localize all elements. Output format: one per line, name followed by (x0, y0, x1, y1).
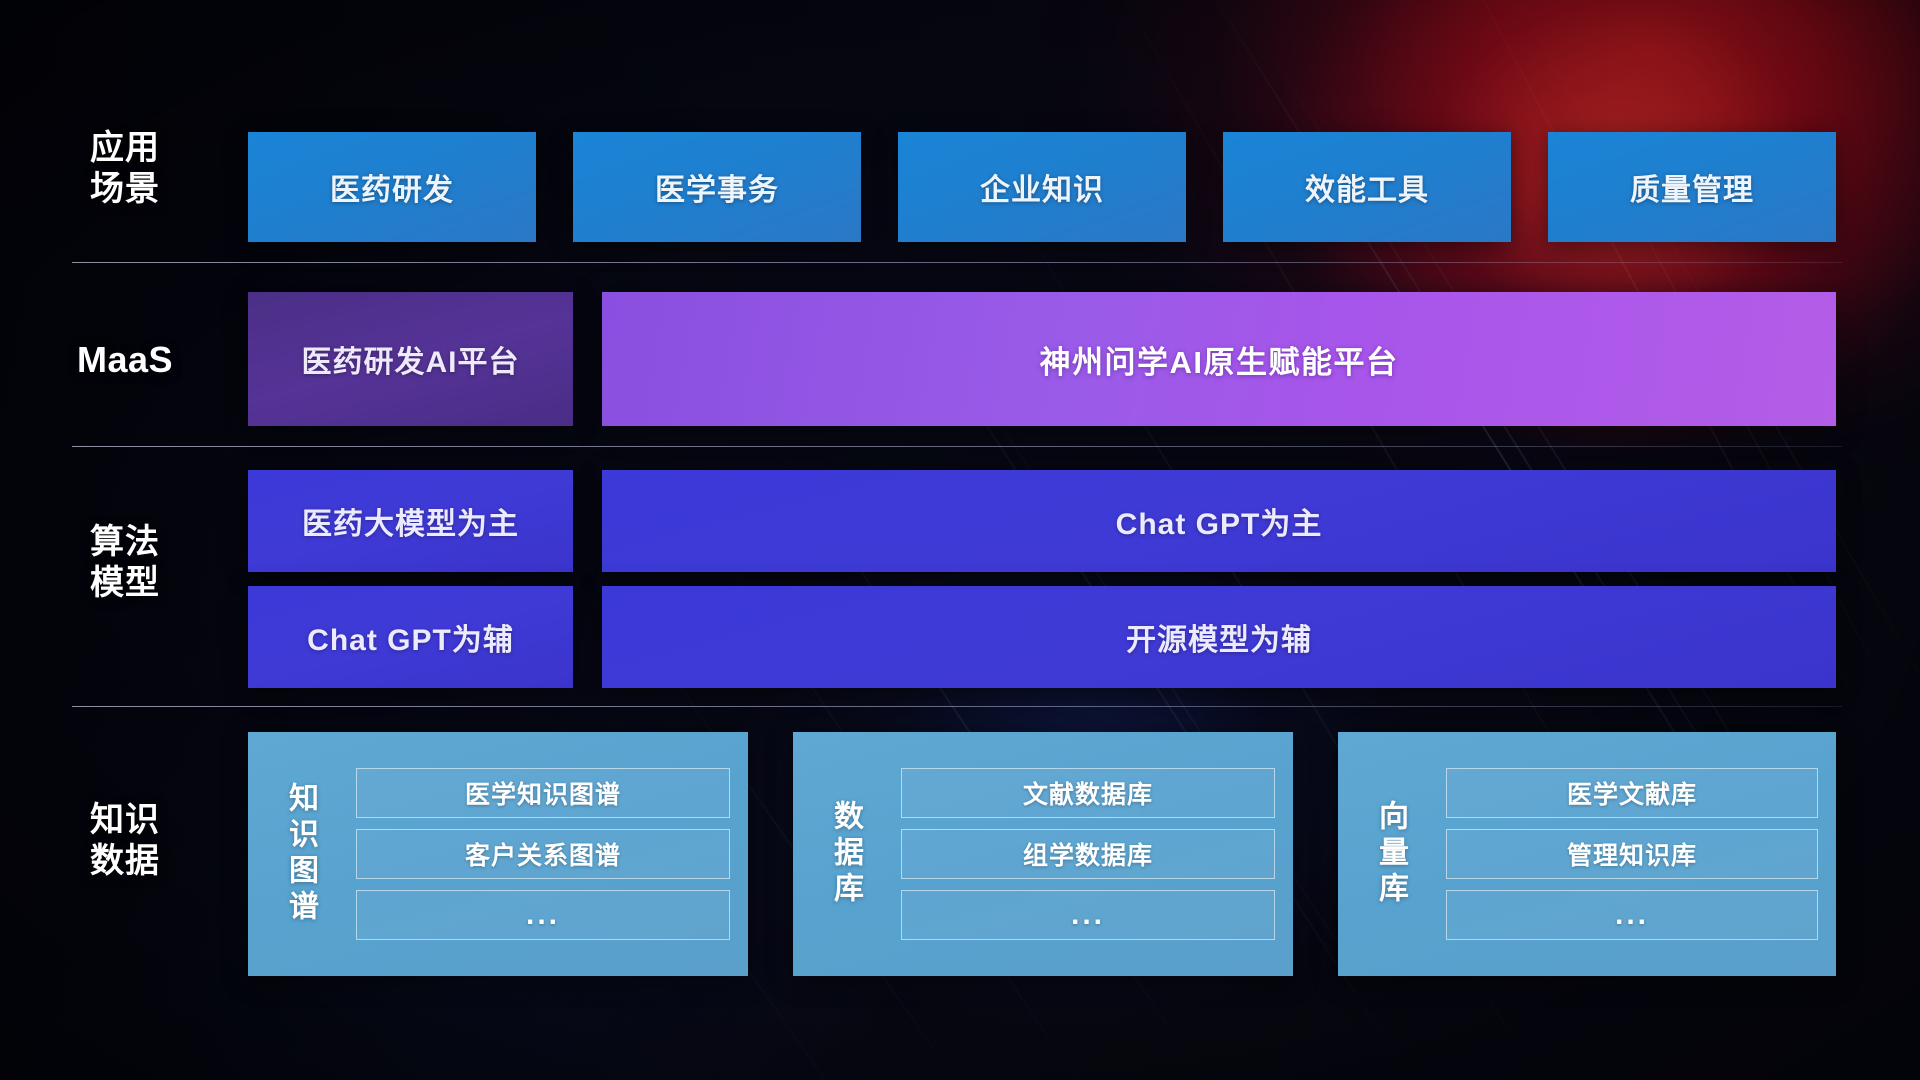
app-scenario-box-2[interactable]: 医学事务 (573, 132, 861, 242)
app-scenario-box-5[interactable]: 质量管理 (1548, 132, 1836, 242)
algorithm-box-opensource-secondary[interactable]: 开源模型为辅 (602, 586, 1836, 688)
divider-after-application-scenarios (72, 262, 1842, 263)
knowledge-item-kg-3[interactable]: ... (356, 890, 730, 940)
app-scenario-label-5: 质量管理 (1630, 165, 1754, 209)
knowledge-item-kg-1[interactable]: 医学知识图谱 (356, 768, 730, 818)
algorithm-label-chatgpt-primary: Chat GPT为主 (1116, 499, 1323, 543)
app-scenario-label-2: 医学事务 (655, 165, 779, 209)
algorithm-box-chatgpt-primary[interactable]: Chat GPT为主 (602, 470, 1836, 572)
app-scenario-box-1[interactable]: 医药研发 (248, 132, 536, 242)
knowledge-panel-vertical-label-vector-store: 向量库 (1338, 732, 1442, 976)
knowledge-panel-vector-store[interactable]: 向量库 医学文献库 管理知识库 ... (1338, 732, 1836, 976)
knowledge-panel-items-database: 文献数据库 组学数据库 ... (897, 732, 1293, 976)
algorithm-label-pharma-primary: 医药大模型为主 (302, 499, 519, 543)
knowledge-item-db-3[interactable]: ... (901, 890, 1275, 940)
app-scenario-box-3[interactable]: 企业知识 (898, 132, 1186, 242)
knowledge-item-vs-1[interactable]: 医学文献库 (1446, 768, 1818, 818)
layer-label-application-scenarios: 应用 场景 (50, 128, 200, 211)
knowledge-panel-vertical-label-database: 数据库 (793, 732, 897, 976)
knowledge-item-vs-2[interactable]: 管理知识库 (1446, 829, 1818, 879)
algorithm-box-chatgpt-secondary[interactable]: Chat GPT为辅 (248, 586, 573, 688)
knowledge-item-db-1[interactable]: 文献数据库 (901, 768, 1275, 818)
app-scenario-label-4: 效能工具 (1305, 165, 1429, 209)
app-scenario-label-1: 医药研发 (330, 165, 454, 209)
knowledge-panel-items-knowledge-graph: 医学知识图谱 客户关系图谱 ... (352, 732, 748, 976)
maas-platform-label-shenzhou: 神州问学AI原生赋能平台 (1040, 337, 1399, 382)
maas-platform-box-shenzhou[interactable]: 神州问学AI原生赋能平台 (602, 292, 1836, 426)
knowledge-item-kg-2[interactable]: 客户关系图谱 (356, 829, 730, 879)
knowledge-panel-knowledge-graph[interactable]: 知识图谱 医学知识图谱 客户关系图谱 ... (248, 732, 748, 976)
algorithm-label-opensource-secondary: 开源模型为辅 (1126, 615, 1312, 659)
app-scenario-label-3: 企业知识 (980, 165, 1104, 209)
knowledge-panel-items-vector-store: 医学文献库 管理知识库 ... (1442, 732, 1836, 976)
layer-label-algorithm-models: 算法 模型 (50, 522, 200, 605)
knowledge-item-vs-3[interactable]: ... (1446, 890, 1818, 940)
algorithm-label-chatgpt-secondary: Chat GPT为辅 (307, 615, 514, 659)
divider-after-maas (72, 446, 1842, 447)
divider-after-algorithm-models (72, 706, 1842, 707)
algorithm-box-pharma-primary[interactable]: 医药大模型为主 (248, 470, 573, 572)
maas-platform-box-pharma[interactable]: 医药研发AI平台 (248, 292, 573, 426)
layer-label-maas: MaaS (50, 338, 200, 382)
knowledge-item-db-2[interactable]: 组学数据库 (901, 829, 1275, 879)
app-scenario-box-4[interactable]: 效能工具 (1223, 132, 1511, 242)
knowledge-panel-database[interactable]: 数据库 文献数据库 组学数据库 ... (793, 732, 1293, 976)
maas-platform-label-pharma: 医药研发AI平台 (302, 337, 520, 381)
architecture-diagram: 应用 场景 医药研发 医学事务 企业知识 效能工具 质量管理 MaaS 医药研发… (0, 0, 1920, 1080)
knowledge-panel-vertical-label-knowledge-graph: 知识图谱 (248, 732, 352, 976)
layer-label-knowledge-data: 知识 数据 (50, 800, 200, 883)
